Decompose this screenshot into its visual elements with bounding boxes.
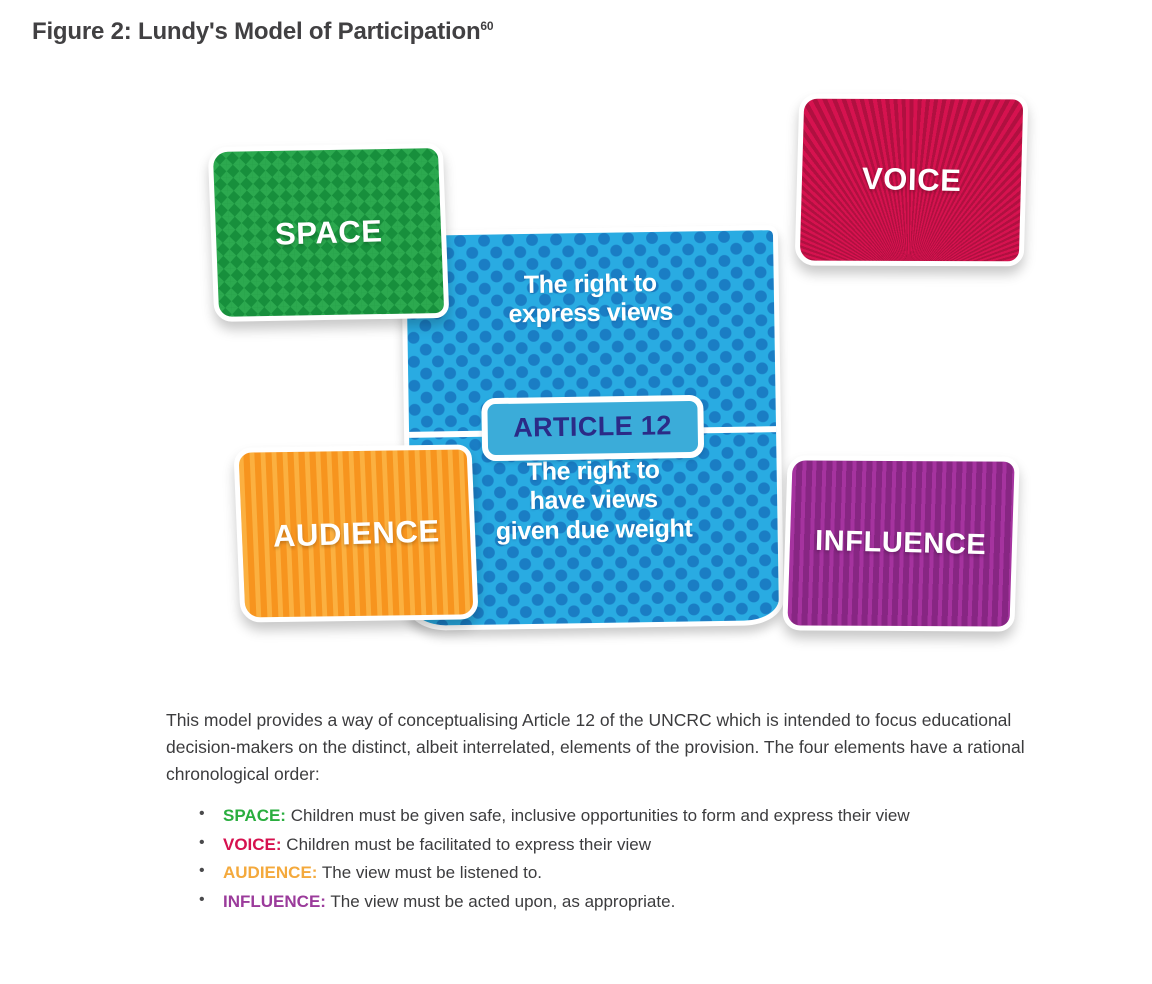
bullet-label-space: SPACE:: [223, 806, 286, 825]
bullet-label-voice: VOICE:: [223, 835, 282, 854]
list-item-audience: AUDIENCE: The view must be listened to.: [199, 859, 1071, 887]
page-title: Figure 2: Lundy's Model of Participation…: [32, 18, 493, 46]
bullet-text-influence: The view must be acted upon, as appropri…: [326, 892, 675, 911]
card-audience[interactable]: AUDIENCE: [233, 444, 478, 622]
bullet-text-space: Children must be given safe, inclusive o…: [286, 806, 910, 825]
card-voice-label: VOICE: [861, 161, 961, 199]
intro-paragraph: This model provides a way of conceptuali…: [166, 707, 1071, 788]
bullet-text-voice: Children must be facilitated to express …: [282, 835, 651, 854]
core-upper-line-2: express views: [407, 296, 774, 331]
bullet-label-audience: AUDIENCE:: [223, 863, 317, 882]
body-copy: This model provides a way of conceptuali…: [166, 707, 1071, 917]
list-item-influence: INFLUENCE: The view must be acted upon, …: [199, 888, 1071, 916]
card-audience-label: AUDIENCE: [272, 513, 440, 554]
footnote-marker: 60: [480, 19, 493, 33]
figure-title-text: Figure 2: Lundy's Model of Participation: [32, 18, 480, 45]
element-bullet-list: SPACE: Children must be given safe, incl…: [166, 802, 1071, 915]
core-horizontal-divider: [409, 426, 776, 438]
card-influence[interactable]: INFLUENCE: [782, 455, 1020, 631]
core-upper-text: The right to express views: [407, 267, 775, 331]
card-space[interactable]: SPACE: [208, 143, 450, 322]
list-item-voice: VOICE: Children must be facilitated to e…: [199, 831, 1071, 859]
card-voice[interactable]: VOICE: [795, 94, 1029, 267]
lundy-model-diagram: The right to express views The right to …: [0, 70, 1152, 670]
bullet-label-influence: INFLUENCE:: [223, 892, 326, 911]
bullet-text-audience: The view must be listened to.: [317, 863, 542, 882]
card-space-label: SPACE: [274, 213, 383, 252]
card-influence-label: INFLUENCE: [815, 525, 987, 562]
list-item-space: SPACE: Children must be given safe, incl…: [199, 802, 1071, 830]
